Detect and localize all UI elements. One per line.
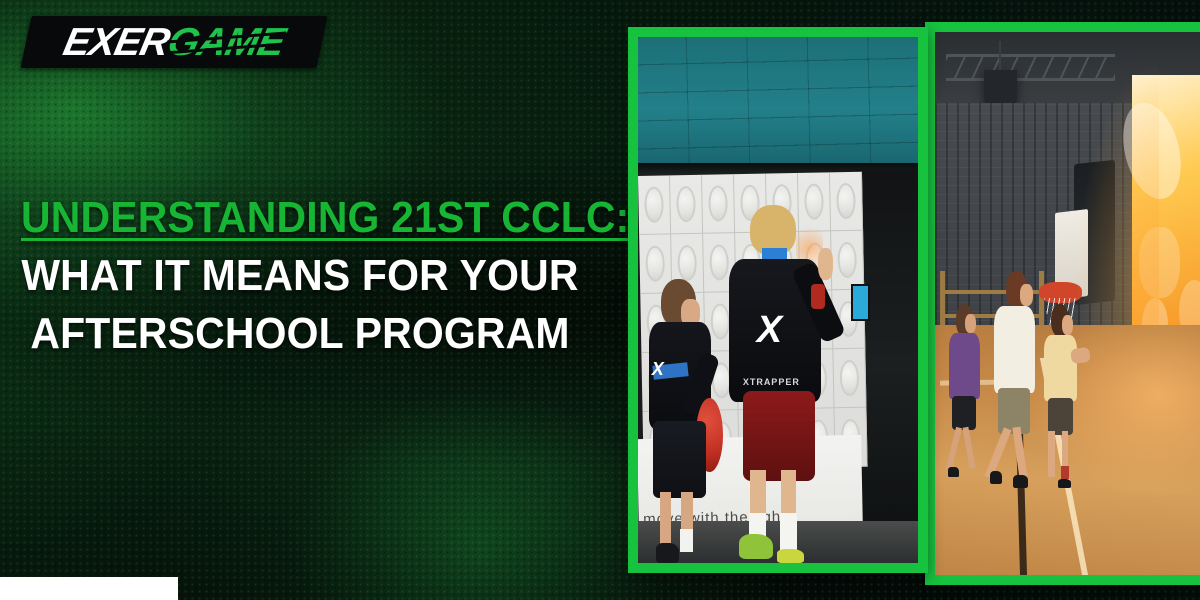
target-wall-cell: [638, 176, 671, 236]
corner-white-block: [0, 577, 178, 600]
logo-word-exer: EXER: [60, 23, 173, 62]
player-leg-left: [1048, 431, 1055, 477]
page-title: UNDERSTANDING 21ST CCLC: WHAT IT MEANS F…: [0, 196, 600, 356]
shirt-x-logo: X: [646, 341, 669, 398]
target-ring-icon: [837, 242, 857, 278]
headline-line-1: UNDERSTANDING 21ST CCLC:: [21, 196, 579, 240]
player-wristband: [811, 284, 824, 309]
player-shoe-right: [1013, 475, 1028, 488]
target-wall-cell: [670, 175, 703, 235]
player-shoe-right: [777, 549, 804, 563]
exergame-logo[interactable]: EXERGAME: [26, 16, 322, 68]
headline-line-3: AFTERSCHOOL PROGRAM: [21, 312, 579, 356]
player-sock-right: [780, 513, 797, 552]
player-shoe-left: [739, 534, 773, 559]
player-shorts: [743, 391, 815, 480]
player-leg-right: [962, 427, 975, 469]
target-ring-icon: [645, 246, 665, 282]
target-ring-icon: [836, 183, 856, 219]
gym-player-girl-purple: [946, 304, 984, 478]
target-ring-icon: [676, 186, 696, 222]
target-ring-icon: [839, 360, 859, 396]
gym-projection-photo-frame: [925, 22, 1200, 585]
player-leg-left: [946, 427, 962, 469]
shirt-x-logo: X: [741, 284, 798, 377]
target-wall-cell: [833, 349, 866, 409]
headline-line-2: WHAT IT MEANS FOR YOUR: [21, 254, 579, 298]
photo-collage: ti move with the light X: [620, 0, 1200, 600]
player-sock: [1061, 466, 1069, 479]
target-wall-cell: [831, 231, 864, 291]
gym-player-boy-white: [990, 271, 1039, 488]
player-face: [965, 314, 976, 333]
interactive-wall-photo: ti move with the light X: [638, 37, 918, 563]
logo-wordmark: EXERGAME: [18, 16, 331, 68]
gym-projection-photo: [935, 32, 1200, 575]
teal-brick-wall: [638, 37, 918, 169]
player-shoe-left: [990, 471, 1003, 484]
player-shorts: [952, 396, 976, 431]
gym-player-reaching: [1041, 304, 1085, 489]
player-leg-left: [660, 492, 671, 549]
player-shirt: [949, 333, 980, 399]
player-shoe: [656, 543, 679, 563]
player-leg-right: [1013, 427, 1028, 480]
target-ring-icon: [644, 187, 664, 223]
blog-hero-banner: EXERGAME UNDERSTANDING 21ST CCLC: WHAT I…: [0, 0, 1200, 600]
player-face: [1062, 315, 1073, 335]
player-sock: [680, 529, 693, 552]
logo-word-game: GAME: [164, 23, 288, 62]
interactive-wall-photo-frame: ti move with the light X: [628, 27, 928, 573]
player-shorts: [653, 421, 705, 498]
player-shirt: [994, 306, 1035, 393]
target-ring-icon: [677, 245, 697, 281]
player-face: [1020, 284, 1033, 306]
player-shorts: [1048, 398, 1073, 435]
player-boy-with-ball: X: [646, 279, 713, 563]
wall-kiosk-screen: [851, 284, 871, 321]
player-boy-at-wall: X XTRAPPER: [728, 205, 823, 563]
player-shoe: [1058, 479, 1071, 488]
player-shirt: [1044, 335, 1077, 401]
target-ring-icon: [708, 186, 728, 222]
target-ring-icon: [709, 245, 729, 281]
player-shoe: [948, 467, 959, 477]
target-wall-cell: [830, 172, 863, 232]
player-hand-right: [818, 248, 833, 280]
